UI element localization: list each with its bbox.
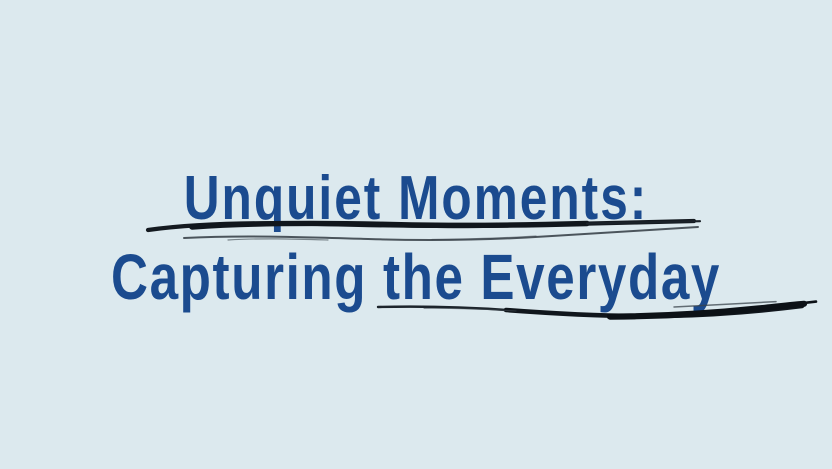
title-block: Unquiet Moments: Capturing the Everyday xyxy=(0,0,832,469)
title-line-one: Unquiet Moments: xyxy=(83,168,749,230)
title-slide: Unquiet Moments: Capturing the Everyday xyxy=(0,0,832,469)
title-line-two: Capturing the Everyday xyxy=(83,245,749,309)
